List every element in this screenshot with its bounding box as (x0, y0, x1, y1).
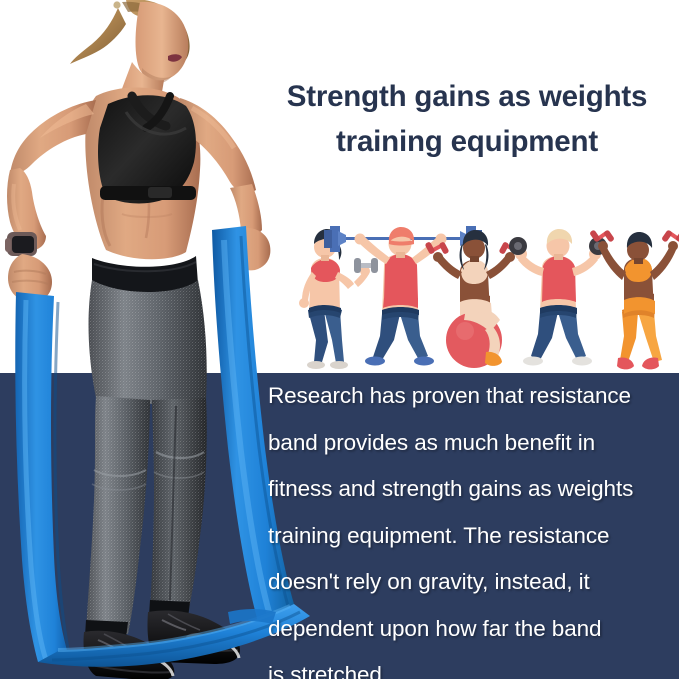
page-title: Strength gains as weights training equip… (258, 74, 676, 164)
product-infographic: Strength gains as weights training equip… (0, 0, 679, 679)
body-line-2: band provides as much benefit in (268, 420, 679, 467)
body-line-3: fitness and strength gains as weights (268, 466, 679, 513)
exercise-figures-illustration (278, 222, 679, 374)
headline-line-2: training equipment (258, 119, 676, 164)
body-line-6: dependent upon how far the band (268, 606, 679, 653)
athlete-photo (0, 0, 272, 679)
body-line-4: training equipment. The resistance (268, 513, 679, 560)
body-paragraph: Research has proven that resistance band… (268, 373, 679, 679)
body-line-5: doesn't rely on gravity, instead, it (268, 559, 679, 606)
body-line-7: is stretched. (268, 652, 679, 679)
body-line-1: Research has proven that resistance (268, 373, 679, 420)
headline-line-1: Strength gains as weights (258, 74, 676, 119)
